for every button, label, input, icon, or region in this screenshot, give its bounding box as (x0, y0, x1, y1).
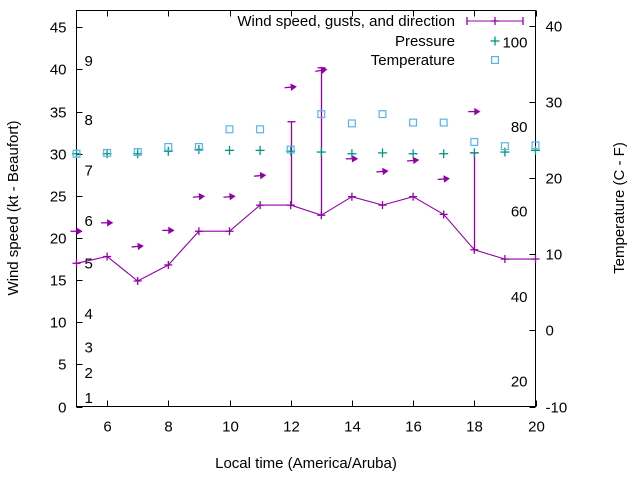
y-left-tick-label: 40 (50, 62, 67, 79)
x-tick-label: 12 (283, 419, 300, 436)
fahrenheit-label: 60 (511, 204, 528, 221)
y-axis-left-title: Wind speed (kt - Beaufort) (5, 120, 22, 295)
beaufort-label: 2 (85, 365, 93, 382)
x-tick-label: 8 (164, 419, 172, 436)
y-right-tick-label: 30 (546, 95, 563, 112)
fahrenheit-label: 20 (511, 373, 528, 390)
y-left-tick-label: 20 (50, 231, 67, 248)
legend-label-line-plus: Wind speed, gusts, and direction (237, 13, 455, 30)
beaufort-label: 5 (85, 255, 93, 272)
x-tick-label: 6 (103, 419, 111, 436)
fahrenheit-label: 100 (502, 34, 527, 51)
beaufort-label: 3 (85, 340, 93, 357)
beaufort-label: 7 (85, 163, 93, 180)
y-left-tick-label: 35 (50, 105, 67, 122)
beaufort-label: 1 (85, 390, 93, 407)
x-tick-label: 14 (344, 419, 361, 436)
beaufort-label: 6 (85, 213, 93, 230)
y-axis-right-title: Temperature (C - F) (611, 142, 628, 274)
fahrenheit-label: 80 (511, 119, 528, 136)
y-left-tick-label: 10 (50, 315, 67, 332)
y-right-tick-label: 40 (546, 19, 563, 36)
chart-background (0, 0, 640, 480)
y-left-tick-label: 25 (50, 189, 67, 206)
beaufort-label: 4 (85, 306, 93, 323)
beaufort-label: 9 (85, 53, 93, 70)
beaufort-label: 8 (85, 112, 93, 129)
y-left-tick-label: 45 (50, 20, 67, 37)
y-left-tick-label: 0 (58, 400, 66, 417)
y-left-tick-label: 15 (50, 273, 67, 290)
y-left-tick-label: 30 (50, 147, 67, 164)
x-axis-title: Local time (America/Aruba) (215, 455, 397, 472)
y-right-tick-label: 10 (546, 247, 563, 264)
x-tick-label: 10 (222, 419, 239, 436)
x-tick-label: 16 (405, 419, 422, 436)
x-tick-label: 20 (528, 419, 545, 436)
y-right-tick-label: -10 (546, 400, 568, 417)
fahrenheit-label: 40 (511, 289, 528, 306)
legend-label-square: Temperature (371, 52, 455, 69)
y-left-tick-label: 5 (58, 357, 66, 374)
weather-chart: 68101214161820 051015202530354045 -10010… (0, 0, 640, 480)
legend-label-plus: Pressure (395, 33, 455, 50)
chart-svg: 68101214161820 051015202530354045 -10010… (0, 0, 640, 480)
x-tick-label: 18 (466, 419, 483, 436)
y-right-tick-label: 20 (546, 171, 563, 188)
y-right-tick-label: 0 (546, 323, 554, 340)
